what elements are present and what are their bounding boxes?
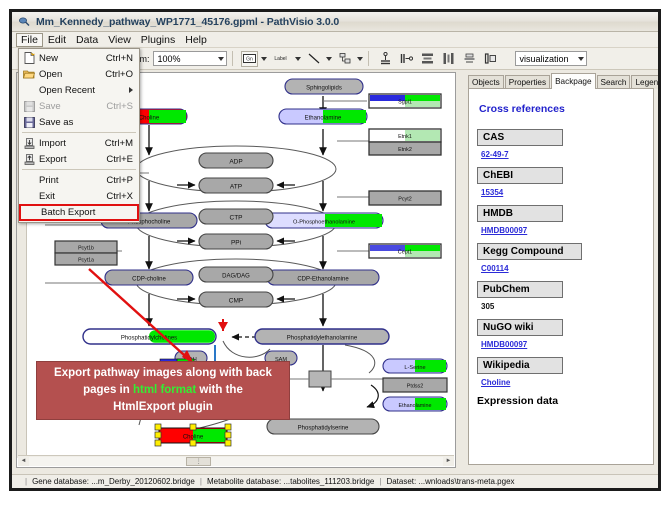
new-document-icon (19, 52, 39, 64)
align-left-button[interactable] (398, 51, 416, 67)
xref-value-pubchem: 305 (481, 302, 645, 311)
gene-sgpl1[interactable]: Sgpl1 (369, 94, 441, 108)
node-phosphatidylcholines[interactable]: Phosphatidylcholines (83, 329, 216, 344)
import-icon (19, 138, 39, 149)
gene-label: Pcyt1a (78, 258, 94, 264)
canvas-horizontal-scrollbar[interactable]: ◄ ⋮ ► (18, 455, 454, 466)
annotation-line2-suffix: with the (196, 384, 243, 396)
node-label: Choline (139, 116, 160, 122)
gene-label: Sgpl1 (398, 100, 412, 106)
save-disk-icon (19, 101, 39, 112)
menu-item-label: Save (39, 101, 106, 112)
menu-item-new[interactable]: New Ctrl+N (19, 50, 139, 66)
menu-item-save: Save Ctrl+S (19, 98, 139, 114)
distribute-horizontal-button[interactable] (440, 51, 458, 67)
chevron-down-icon (578, 57, 584, 61)
file-dropdown-menu[interactable]: New Ctrl+N Open Ctrl+O Open Recent (18, 48, 140, 223)
node-label: Ethanolamine (305, 116, 342, 122)
status-gene-database-value: ...m_Derby_20120602.bridge (91, 477, 195, 486)
tab-objects[interactable]: Objects (468, 75, 504, 89)
tab-properties[interactable]: Properties (505, 75, 550, 89)
xref-header-chebi: ChEBI (477, 167, 563, 184)
menu-item-accelerator: Ctrl+X (106, 191, 139, 202)
node-phosphatidylserine[interactable]: Phosphatidylserine (267, 419, 379, 434)
menu-item-accelerator: Ctrl+P (106, 175, 139, 186)
node-label: Phosphatidylserine (298, 426, 349, 432)
annotation-line1: Export pathway images along with back (54, 367, 272, 379)
gene-etnk1[interactable]: Etnk1 (369, 129, 441, 142)
menu-item-import[interactable]: Import Ctrl+M (19, 135, 139, 151)
red-arrow-to-annotation (218, 319, 228, 331)
save-as-disk-icon (19, 117, 39, 128)
gene-label: Etnk1 (398, 134, 412, 140)
screenshot-root: Mm_Kennedy_pathway_WP1771_45176.gpml - P… (0, 0, 670, 509)
side-panel-tabs[interactable]: Objects Properties Backpage Search Legen… (468, 74, 654, 89)
menu-divider-2 (22, 169, 136, 170)
menu-item-accelerator: Ctrl+O (105, 69, 139, 80)
menu-item-label: Open (39, 69, 105, 80)
cross-references-title: Cross references (479, 103, 645, 115)
node-label: PPi (231, 240, 241, 247)
side-panel: Objects Properties Backpage Search Legen… (462, 72, 654, 468)
tab-search[interactable]: Search (597, 75, 631, 89)
scroll-track[interactable]: ⋮ (29, 457, 443, 466)
node-label: CDP-Ethanolamine (297, 277, 349, 283)
xref-header-hmdb: HMDB (477, 205, 563, 222)
xref-header-kegg-compound: Kegg Compound (477, 243, 582, 260)
menu-edit[interactable]: Edit (43, 33, 71, 47)
menu-item-export[interactable]: Export Ctrl+E (19, 151, 139, 167)
window-title: Mm_Kennedy_pathway_WP1771_45176.gpml - P… (36, 16, 339, 28)
annotation-callout: Export pathway images along with back pa… (36, 361, 290, 420)
label-dropdown-icon[interactable] (295, 57, 301, 61)
status-dataset-value: ...wnloads\trans-meta.pgex (418, 477, 514, 486)
submenu-arrow-icon (129, 87, 133, 93)
svg-text:Gn: Gn (246, 57, 253, 63)
shape-dropdown-icon[interactable] (357, 57, 363, 61)
node-ppi[interactable]: PPi (199, 234, 273, 249)
xref-header-nugo-wiki: NuGO wiki (477, 319, 563, 336)
align-top-button[interactable] (377, 51, 395, 67)
xref-header-cas: CAS (477, 129, 563, 146)
menu-plugins[interactable]: Plugins (136, 33, 180, 47)
xref-header-wikipedia: Wikipedia (477, 357, 563, 374)
status-dataset-label: Dataset: (386, 477, 416, 486)
node-label: L-Serine (404, 365, 425, 371)
node-label: CDP-choline (132, 277, 166, 283)
chevron-down-icon (218, 57, 224, 61)
line-dropdown-icon[interactable] (326, 57, 332, 61)
tab-legend[interactable]: Legend (631, 75, 658, 89)
node-ethanolamine-top[interactable]: Ethanolamine (279, 109, 367, 124)
group-button[interactable] (482, 51, 500, 67)
node-atp[interactable]: ATP (199, 178, 273, 193)
scroll-left-arrow-icon[interactable]: ◄ (18, 456, 29, 466)
menu-item-label: New (39, 53, 106, 64)
title-bar: Mm_Kennedy_pathway_WP1771_45176.gpml - P… (12, 12, 658, 32)
scroll-right-arrow-icon[interactable]: ► (443, 456, 454, 466)
label-tool-button[interactable]: Label (270, 51, 292, 67)
zoom-combobox[interactable]: 100% (153, 51, 227, 66)
label-tool-text: Label (274, 56, 286, 62)
export-icon (19, 154, 39, 165)
backpage-content: Cross references CAS 62-49-7 ChEBI 15354… (468, 88, 654, 465)
line-tool-button[interactable] (307, 51, 323, 67)
node-label: ATP (230, 184, 242, 191)
menu-item-label: Import (39, 138, 105, 149)
annotation-line2-prefix: pages in (83, 384, 133, 396)
visualization-combobox[interactable]: visualization (515, 51, 587, 66)
menu-file[interactable]: File (16, 33, 43, 47)
gene-label: Cept1 (398, 250, 412, 256)
pathvisio-icon (18, 15, 31, 28)
gene-label: Pcyt2 (398, 197, 411, 203)
xref-value-chebi[interactable]: 15354 (481, 188, 645, 197)
gene-label: Etnk2 (398, 147, 412, 153)
menu-item-save-as[interactable]: Save as (19, 114, 139, 130)
shape-tool-button[interactable] (338, 51, 354, 67)
menu-data[interactable]: Data (71, 33, 103, 47)
node-adp[interactable]: ADP (199, 153, 273, 168)
node-o-phosphoethanolamine[interactable]: O-Phosphoethanolamine (265, 213, 383, 228)
node-label: Choline (183, 435, 204, 441)
xref-value-kegg-compound[interactable]: C00114 (481, 264, 645, 273)
status-divider-2: | (379, 477, 381, 486)
menu-item-label: Open Recent (39, 85, 129, 96)
node-label: CTP (230, 215, 243, 222)
gene-pcyt1b[interactable]: Pcyt1b (55, 241, 117, 253)
annotation-line3: HtmlExport plugin (113, 401, 213, 413)
node-cdp-ethanolamine[interactable]: CDP-Ethanolamine (267, 270, 379, 285)
node-cdp-choline[interactable]: CDP-choline (105, 270, 193, 285)
node-label: O-Phosphoethanolamine (293, 220, 355, 226)
menu-item-accelerator: Ctrl+N (106, 53, 139, 64)
status-metabolite-database-value: ...tabolites_111203.bridge (283, 477, 374, 486)
menu-item-open-recent[interactable]: Open Recent (19, 82, 139, 98)
gene-label: Ptdss2 (407, 384, 423, 390)
scroll-thumb[interactable]: ⋮ (186, 457, 211, 466)
xref-value-wikipedia[interactable]: Choline (481, 378, 645, 387)
menu-item-exit[interactable]: Exit Ctrl+X (19, 188, 139, 204)
open-folder-icon (19, 69, 39, 79)
menu-help[interactable]: Help (180, 33, 212, 47)
node-choline-selected[interactable]: Choline (155, 424, 231, 446)
menu-item-label: Exit (39, 191, 106, 202)
node-phosphatidylethanolamine[interactable]: Phosphatidylethanolamine (255, 329, 389, 344)
node-l-serine[interactable]: L-Serine (383, 359, 447, 373)
toolbar-divider-2 (368, 51, 369, 66)
xref-value-hmdb[interactable]: HMDB00097 (481, 226, 645, 235)
xref-value-nugo-wiki[interactable]: HMDB00097 (481, 340, 645, 349)
gene-cept1[interactable]: Cept1 (369, 244, 441, 258)
visualization-value: visualization (520, 54, 569, 64)
pathvisio-window: Mm_Kennedy_pathway_WP1771_45176.gpml - P… (12, 12, 658, 488)
menu-item-label: Print (39, 175, 106, 186)
node-label: DAG/DAG (222, 274, 250, 280)
menu-item-label: Batch Export (41, 207, 137, 218)
xref-value-cas[interactable]: 62-49-7 (481, 150, 645, 159)
gene-ptdss2[interactable]: Ptdss2 (383, 378, 447, 392)
menu-item-print[interactable]: Print Ctrl+P (19, 172, 139, 188)
node-sphingolipids[interactable]: Sphingolipids (285, 79, 363, 94)
gene-pcyt2[interactable]: Pcyt2 (369, 191, 441, 205)
menu-item-accelerator: Ctrl+E (106, 154, 139, 165)
node-label: Phosphatidylethanolamine (287, 336, 358, 342)
annotation-highlight: html format (133, 384, 196, 396)
status-divider-0: | (25, 477, 27, 486)
node-label: CMP (229, 298, 243, 305)
menu-item-accelerator: Ctrl+S (106, 101, 139, 112)
zoom-value: 100% (158, 54, 181, 64)
menu-item-batch-export[interactable]: Batch Export (19, 204, 139, 221)
node-dag-dag[interactable]: DAG/DAG (199, 267, 273, 282)
gene-pcyt1a[interactable]: Pcyt1a (55, 253, 117, 265)
node-label: Ethanolamine (399, 403, 432, 409)
tab-backpage[interactable]: Backpage (551, 73, 595, 89)
node-label: Sphingolipids (306, 86, 342, 92)
gene-label: Pcyt1b (78, 246, 94, 252)
menu-item-open[interactable]: Open Ctrl+O (19, 66, 139, 82)
node-ctp[interactable]: CTP (199, 209, 273, 224)
distribute-vertical-button[interactable] (419, 51, 437, 67)
status-metabolite-database-label: Metabolite database: (207, 477, 281, 486)
datanode-dropdown-icon[interactable] (261, 57, 267, 61)
menu-item-label: Save as (39, 117, 133, 128)
node-cmp[interactable]: CMP (199, 292, 273, 307)
menu-view[interactable]: View (103, 33, 136, 47)
gene-etnk2[interactable]: Etnk2 (369, 142, 441, 155)
status-gene-database-label: Gene database: (32, 477, 89, 486)
menu-bar[interactable]: File Edit Data View Plugins Help (12, 32, 658, 48)
menu-item-label: Export (39, 154, 106, 165)
menu-item-accelerator: Ctrl+M (105, 138, 139, 149)
expression-data-title: Expression data (477, 395, 645, 407)
window-outer-frame: Mm_Kennedy_pathway_WP1771_45176.gpml - P… (9, 9, 661, 491)
menu-divider-1 (22, 132, 136, 133)
toolbar-divider-1 (232, 51, 233, 66)
xref-header-pubchem: PubChem (477, 281, 563, 298)
status-bar: | Gene database: ...m_Derby_20120602.bri… (12, 474, 658, 488)
node-ethanolamine-right[interactable]: Ethanolamine (383, 397, 447, 411)
status-divider-1: | (200, 477, 202, 486)
datanode-tool-button[interactable]: Gn (241, 51, 258, 67)
stack-button[interactable] (461, 51, 479, 67)
node-label: ADP (229, 159, 242, 166)
